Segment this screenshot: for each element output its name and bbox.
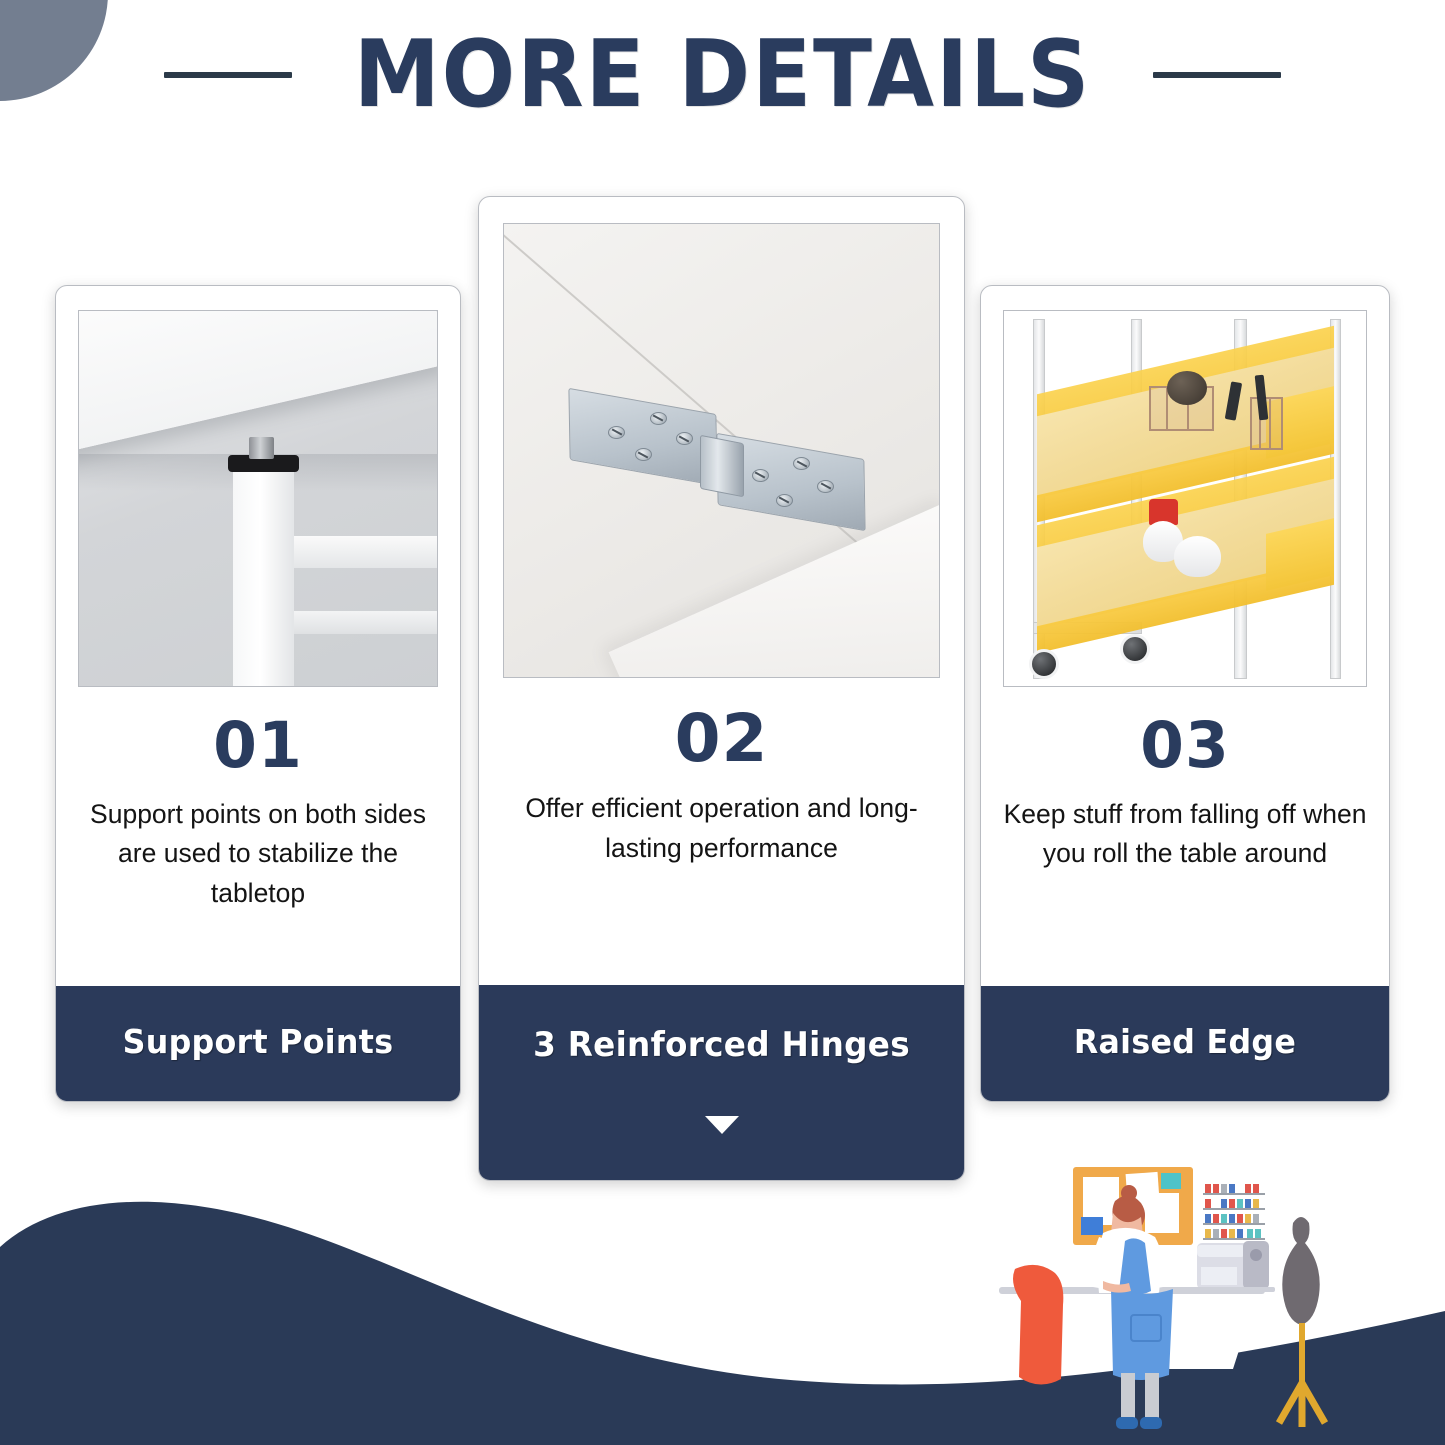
card-2-body: 02 Offer efficient operation and long-la… <box>479 678 964 985</box>
card-2-banner[interactable]: 3 Reinforced Hinges <box>479 985 964 1180</box>
feature-card-1[interactable]: 01 Support points on both sides are used… <box>55 285 461 1102</box>
feature-cards-row: 01 Support points on both sides are used… <box>0 0 1445 1210</box>
chevron-down-icon[interactable] <box>705 1116 739 1134</box>
card-1-body: 01 Support points on both sides are used… <box>56 687 460 986</box>
card-1-photo <box>78 310 438 687</box>
page-title: MORE DETAILS <box>354 28 1091 121</box>
sewing-machine-icon <box>1191 1241 1275 1292</box>
card-3-body: 03 Keep stuff from falling off when you … <box>981 687 1389 986</box>
card-1-number: 01 <box>74 713 442 779</box>
card-2-number: 02 <box>497 704 946 773</box>
card-1-banner-curve <box>55 1069 461 1102</box>
card-3-photo <box>1003 310 1367 687</box>
sewing-room-illustration <box>985 1155 1445 1445</box>
card-3-banner[interactable]: Raised Edge <box>981 986 1389 1101</box>
card-3-description: Keep stuff from falling off when you rol… <box>999 795 1371 873</box>
dress-form-mannequin-icon <box>1279 1217 1325 1427</box>
card-3-banner-label: Raised Edge <box>989 986 1381 1061</box>
page-header: MORE DETAILS <box>0 28 1445 121</box>
card-2-description: Offer efficient operation and long-lasti… <box>497 789 946 867</box>
feature-card-3[interactable]: 03 Keep stuff from falling off when you … <box>980 285 1390 1102</box>
title-rule-left-icon <box>164 72 292 78</box>
card-2-banner-curve <box>478 1148 965 1181</box>
red-fabric-icon <box>1013 1265 1063 1385</box>
card-3-number: 03 <box>999 713 1371 779</box>
card-3-banner-curve <box>980 1069 1390 1102</box>
title-rule-right-icon <box>1153 72 1281 78</box>
card-1-banner-label: Support Points <box>64 986 452 1061</box>
card-2-banner-label: 3 Reinforced Hinges <box>489 985 955 1065</box>
card-1-description: Support points on both sides are used to… <box>74 795 442 913</box>
thread-spool-shelf-icon <box>1203 1184 1265 1240</box>
card-2-photo <box>503 223 940 678</box>
card-1-banner[interactable]: Support Points <box>56 986 460 1101</box>
feature-card-2[interactable]: 02 Offer efficient operation and long-la… <box>478 196 965 1181</box>
